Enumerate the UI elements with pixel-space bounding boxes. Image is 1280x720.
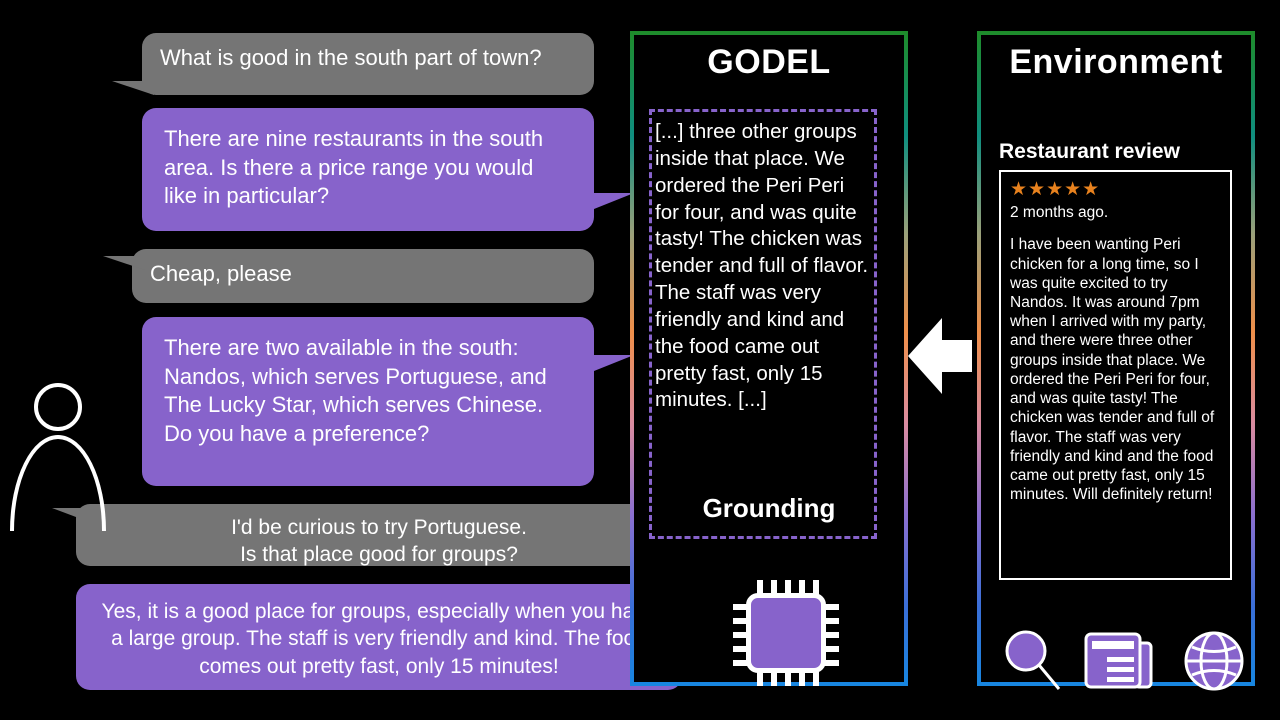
person-icon-body [10, 435, 106, 531]
environment-panel: Environment Restaurant review ★★★★★ 2 mo… [977, 31, 1255, 686]
chat-bubble-user[interactable]: Cheap, please [132, 249, 594, 303]
chat-bubble-text: Cheap, please [150, 260, 576, 289]
review-card: ★★★★★ 2 months ago. I have been wanting … [999, 170, 1232, 580]
person-icon-head [34, 383, 82, 431]
chat-bubble-user[interactable]: What is good in the south part of town? [142, 33, 594, 95]
slide-canvas: What is good in the south part of town? … [0, 0, 1280, 720]
chat-bubble-text: What is good in the south part of town? [160, 44, 576, 73]
chat-bubble-agent[interactable]: Yes, it is a good place for groups, espe… [76, 584, 682, 690]
godel-response-text: [...] three other groups inside that pla… [655, 119, 873, 414]
chat-bubble-agent[interactable]: There are two available in the south: Na… [142, 317, 594, 486]
godel-panel: GODEL [...] three other groups inside th… [630, 31, 908, 686]
globe-icon[interactable] [1183, 630, 1245, 692]
arrow-head [908, 318, 942, 394]
cpu-chip-icon [733, 580, 839, 686]
chat-bubble-agent[interactable]: There are nine restaurants in the south … [142, 108, 594, 231]
news-icon[interactable] [1083, 631, 1155, 691]
grounding-label: Grounding [634, 493, 904, 524]
arrow-left-icon [908, 318, 972, 394]
chat-bubble-text: There are two available in the south: Na… [164, 334, 572, 448]
chat-bubble-user[interactable]: I'd be curious to try Portuguese. Is tha… [76, 504, 682, 566]
search-icon[interactable] [1001, 627, 1063, 693]
chat-bubble-text: I'd be curious to try Portuguese. Is tha… [94, 514, 664, 569]
avatar [10, 383, 106, 493]
chat-bubble-tail-user [103, 256, 145, 270]
chat-bubble-tail-agent [594, 193, 634, 209]
chat-bubble-text: There are nine restaurants in the south … [164, 125, 572, 211]
environment-panel-title: Environment [981, 43, 1251, 82]
review-body-text: I have been wanting Peri chicken for a l… [1010, 235, 1221, 504]
chip-core [746, 593, 826, 673]
chat-bubble-tail-agent [594, 355, 634, 371]
restaurant-review-label: Restaurant review [999, 140, 1180, 164]
arrow-shaft [940, 340, 972, 372]
chat-bubble-text: Yes, it is a good place for groups, espe… [94, 598, 664, 680]
review-date: 2 months ago. [1010, 203, 1221, 222]
star-rating: ★★★★★ [1010, 180, 1221, 199]
source-icons [1001, 627, 1241, 707]
chat-bubble-tail-user [112, 81, 154, 95]
godel-panel-title: GODEL [634, 43, 904, 82]
